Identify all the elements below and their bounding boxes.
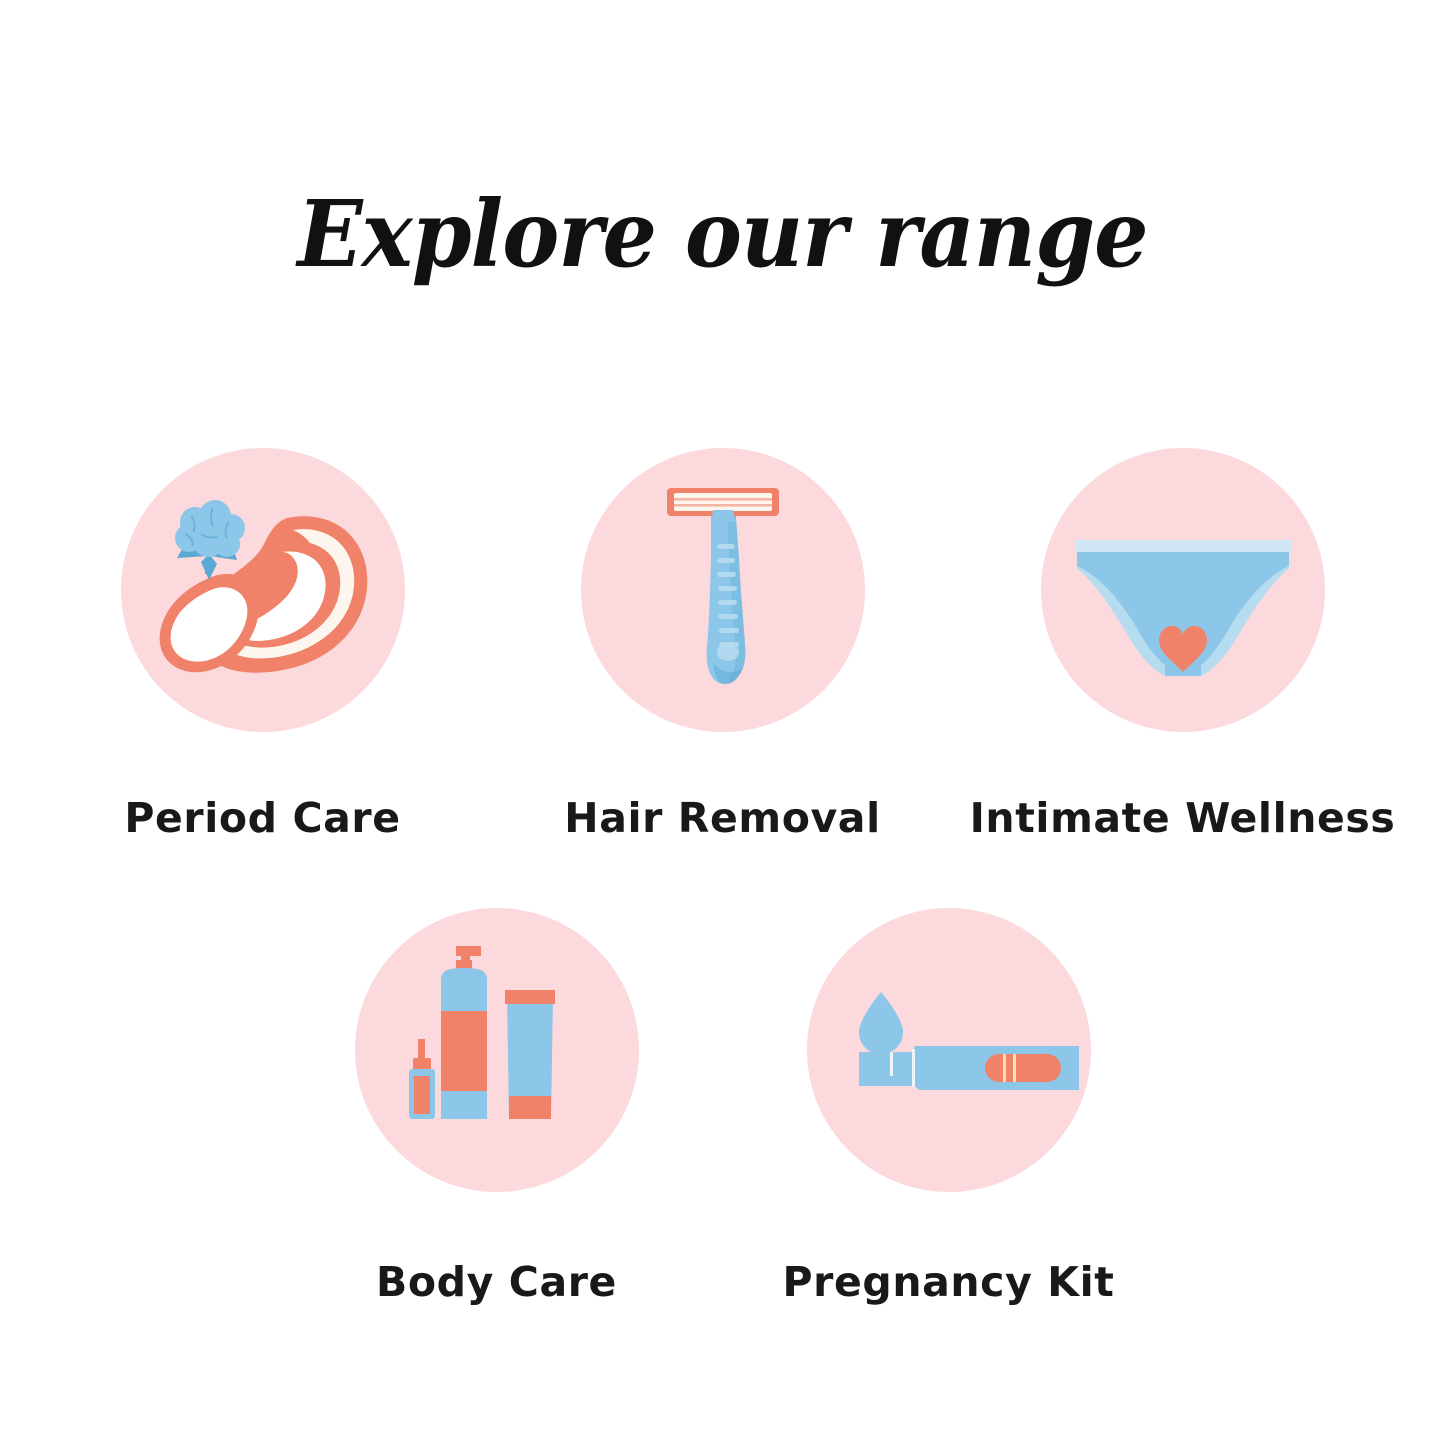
category-tile-hair-removal[interactable]: Hair Removal	[581, 448, 865, 842]
category-icon-circle-pregnancy-kit[interactable]	[807, 908, 1091, 1192]
razor-icon	[581, 448, 865, 732]
category-label-body-care: Body Care	[376, 1258, 617, 1306]
sanitary-pad-cotton-icon	[121, 448, 405, 732]
page-title: Explore our range	[51, 186, 1395, 283]
explore-our-range-page: Explore our range	[0, 0, 1445, 1445]
category-icon-circle-body-care[interactable]	[355, 908, 639, 1192]
category-row-bottom: Body Care	[0, 908, 1445, 1306]
category-label-hair-removal: Hair Removal	[564, 794, 880, 842]
lotion-bottles-icon	[355, 908, 639, 1192]
category-label-intimate-wellness: Intimate Wellness	[970, 794, 1396, 842]
category-label-period-care: Period Care	[124, 794, 400, 842]
category-row-top: Period Care	[0, 448, 1445, 842]
category-icon-circle-intimate-wellness[interactable]	[1041, 448, 1325, 732]
category-icon-circle-period-care[interactable]	[121, 448, 405, 732]
underwear-heart-icon	[1041, 448, 1325, 732]
category-tile-body-care[interactable]: Body Care	[355, 908, 639, 1306]
category-tile-period-care[interactable]: Period Care	[121, 448, 405, 842]
pregnancy-test-icon	[807, 908, 1091, 1192]
category-tile-pregnancy-kit[interactable]: Pregnancy Kit	[807, 908, 1091, 1306]
category-tile-intimate-wellness[interactable]: Intimate Wellness	[1041, 448, 1325, 842]
category-label-pregnancy-kit: Pregnancy Kit	[783, 1258, 1115, 1306]
category-icon-circle-hair-removal[interactable]	[581, 448, 865, 732]
